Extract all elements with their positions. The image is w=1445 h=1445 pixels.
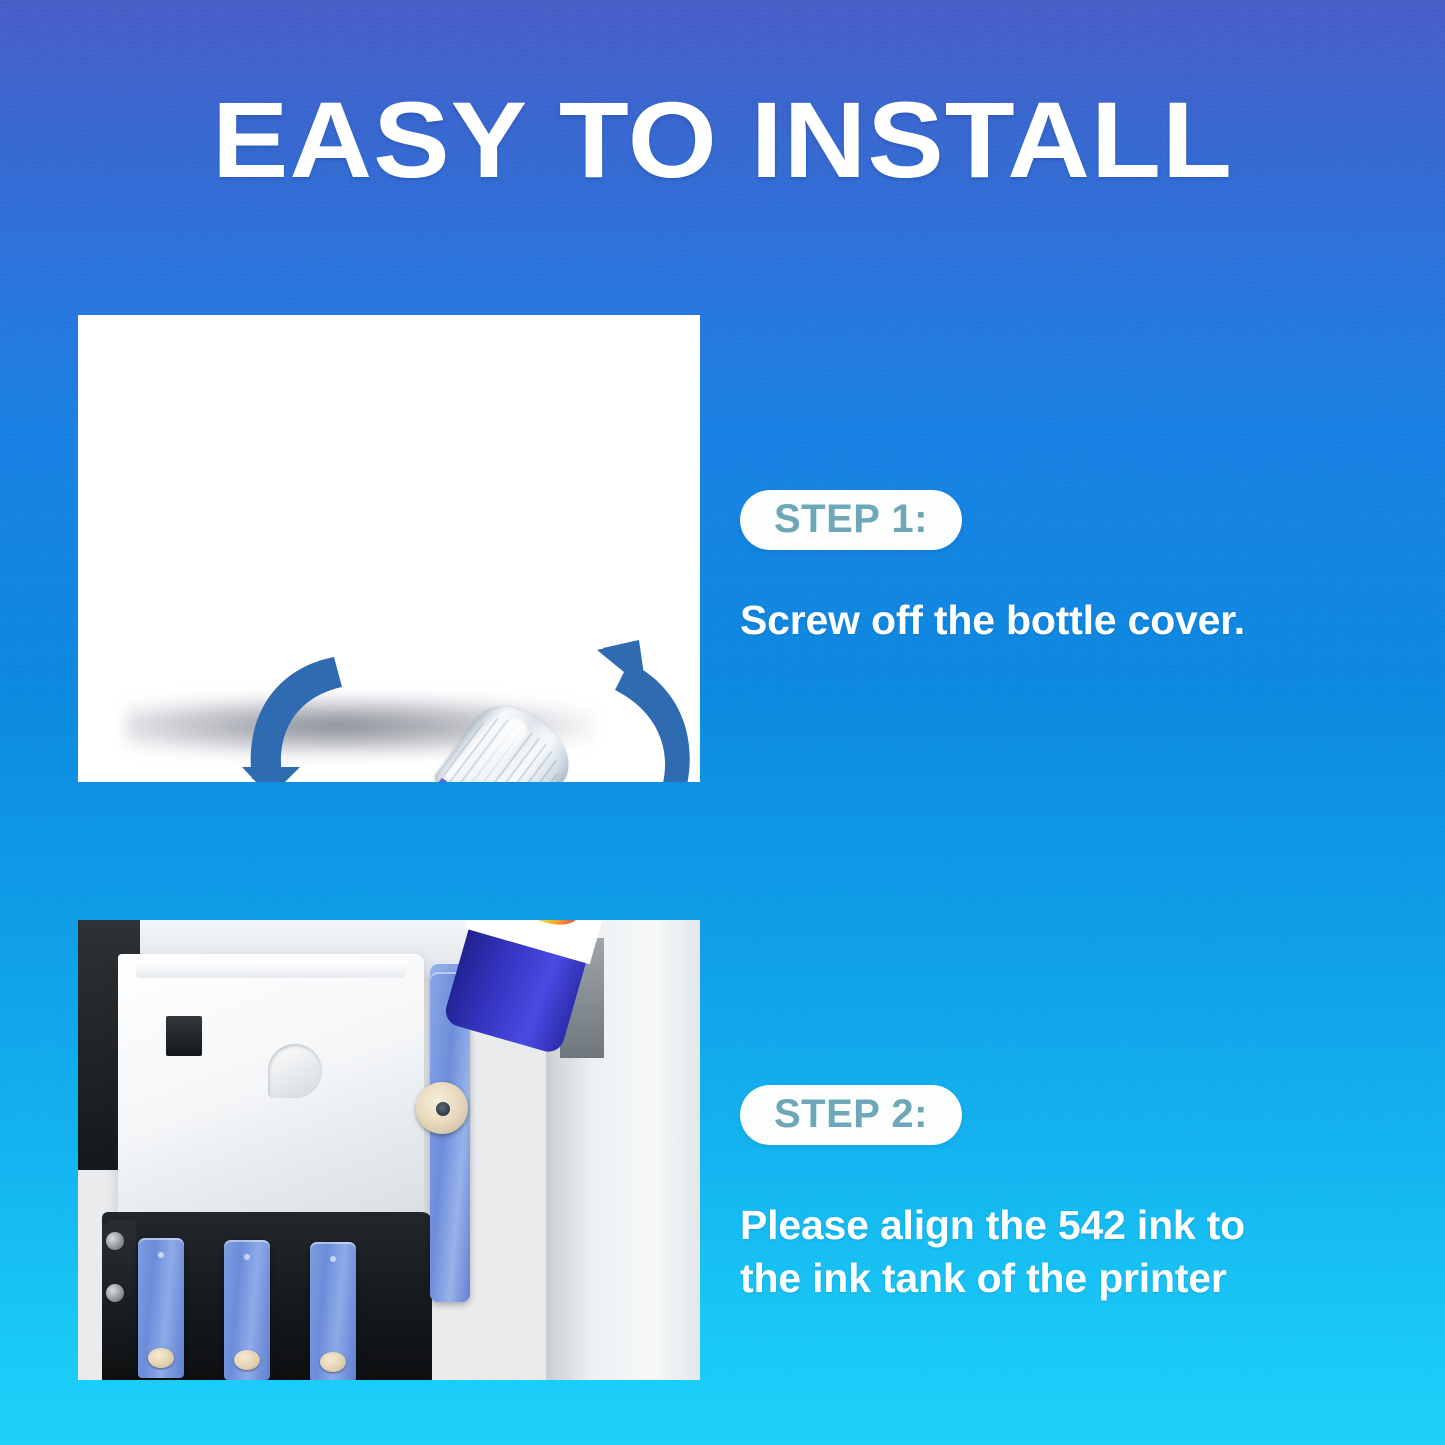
brand-rainbow-arc-icon [496,920,579,931]
ink-tank-grommet [234,1350,260,1370]
screw-icon [106,1232,124,1250]
ink-tank-lever [310,1242,356,1380]
step1-badge: STEP 1: [740,490,962,550]
ink-tank-lever [224,1240,270,1380]
ink-tank-cover [118,954,424,1254]
ink-tank-cover-notch [166,1016,202,1056]
photo-panel-step2: Paeolos lacement [78,920,700,1380]
screw-icon [106,1284,124,1302]
step2-text-block: STEP 2: Please align the 542 ink to the … [740,1085,1380,1305]
step2-description-line1: Please align the 542 ink to [740,1199,1380,1252]
step1-description: Screw off the bottle cover. [740,594,1380,647]
ink-tank-lever [138,1238,184,1378]
ink-tank-grommet [148,1348,174,1368]
ink-tank-black-clip [102,1220,136,1370]
rotate-arrow-down-left-icon [238,647,428,782]
step2-description: Please align the 542 ink to the ink tank… [740,1199,1380,1305]
lever-dot [244,1254,250,1260]
lever-dot [330,1256,336,1262]
ink-bottle-unscrew-scene: Paeolos Replacement ink bottle for 542 7… [78,315,700,782]
printer-ink-tank-scene: Paeolos lacement [78,920,700,1380]
product-infographic-poster: EASY TO INSTALL [0,0,1445,1445]
ink-tank-cover-ledge [136,960,406,978]
step2-description-line2: the ink tank of the printer [740,1252,1380,1305]
lever-dot [158,1252,164,1258]
page-title: EASY TO INSTALL [0,86,1445,194]
ink-tank-cover-emboss [268,1044,322,1098]
ink-tank-fill-port-hole [436,1102,450,1116]
step2-badge: STEP 2: [740,1085,962,1145]
ink-tank-grommet [320,1352,346,1372]
photo-panel-step1: Paeolos Replacement ink bottle for 542 7… [78,315,700,782]
step1-text-block: STEP 1: Screw off the bottle cover. [740,490,1380,647]
